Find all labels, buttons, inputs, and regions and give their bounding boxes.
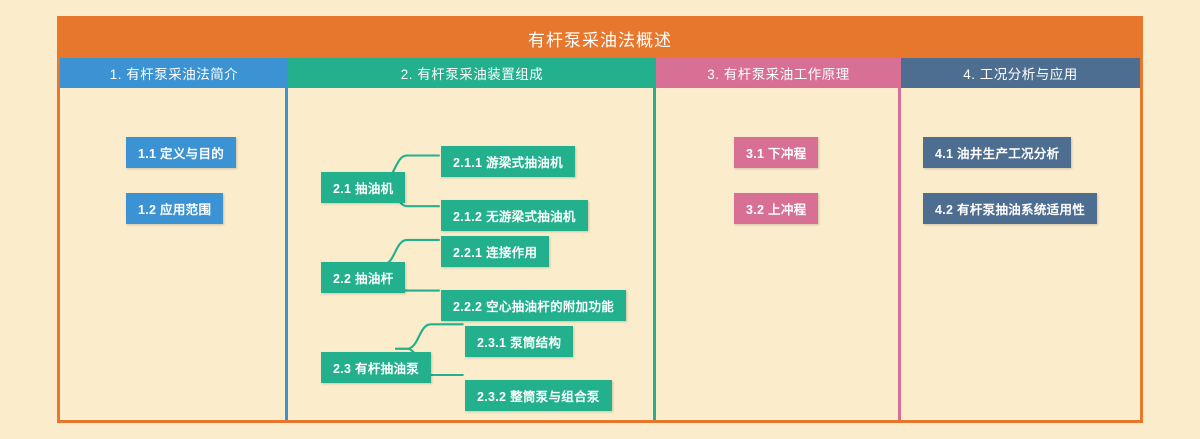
- node-3-1[interactable]: 3.1 下冲程: [734, 137, 818, 168]
- column-header-row: 1. 有杆泵采油法简介 2. 有杆泵采油装置组成 3. 有杆泵采油工作原理 4.…: [60, 58, 1140, 88]
- column-header-2[interactable]: 2. 有杆泵采油装置组成: [288, 58, 656, 88]
- diagram-title: 有杆泵采油法概述: [528, 26, 672, 51]
- mindmap-diagram: 有杆泵采油法概述 1. 有杆泵采油法简介 2. 有杆泵采油装置组成 3. 有杆泵…: [57, 16, 1143, 423]
- node-4-2[interactable]: 4.2 有杆泵抽油系统适用性: [923, 193, 1097, 224]
- column-header-4[interactable]: 4. 工况分析与应用: [901, 58, 1140, 88]
- node-1-2[interactable]: 1.2 应用范围: [126, 193, 223, 224]
- tree-group-2-3: 2.3 有杆抽油泵 2.3.1 泵筒结构 2.3.2 整筒泵与组合泵: [288, 88, 653, 420]
- column-body-2: 2.1 抽油机 2.1.1 游梁式抽油机 2.1.2 无游梁式抽油机 2.2 抽…: [288, 88, 656, 420]
- node-1-1[interactable]: 1.1 定义与目的: [126, 137, 236, 168]
- node-2-3[interactable]: 2.3 有杆抽油泵: [321, 352, 431, 383]
- node-2-3-2[interactable]: 2.3.2 整筒泵与组合泵: [465, 380, 612, 411]
- node-3-2[interactable]: 3.2 上冲程: [734, 193, 818, 224]
- node-2-3-1[interactable]: 2.3.1 泵筒结构: [465, 326, 573, 357]
- column-body-1: 1.1 定义与目的 1.2 应用范围: [60, 88, 288, 420]
- column-header-3[interactable]: 3. 有杆泵采油工作原理: [656, 58, 901, 88]
- column-header-1[interactable]: 1. 有杆泵采油法简介: [60, 58, 288, 88]
- column-body-4: 4.1 油井生产工况分析 4.2 有杆泵抽油系统适用性: [901, 88, 1140, 420]
- diagram-title-bar: 有杆泵采油法概述: [60, 19, 1140, 58]
- column-body-3: 3.1 下冲程 3.2 上冲程: [656, 88, 901, 420]
- column-body-row: 1.1 定义与目的 1.2 应用范围 2.1 抽油机 2.1.1 游梁式抽油机 …: [60, 88, 1140, 420]
- node-4-1[interactable]: 4.1 油井生产工况分析: [923, 137, 1071, 168]
